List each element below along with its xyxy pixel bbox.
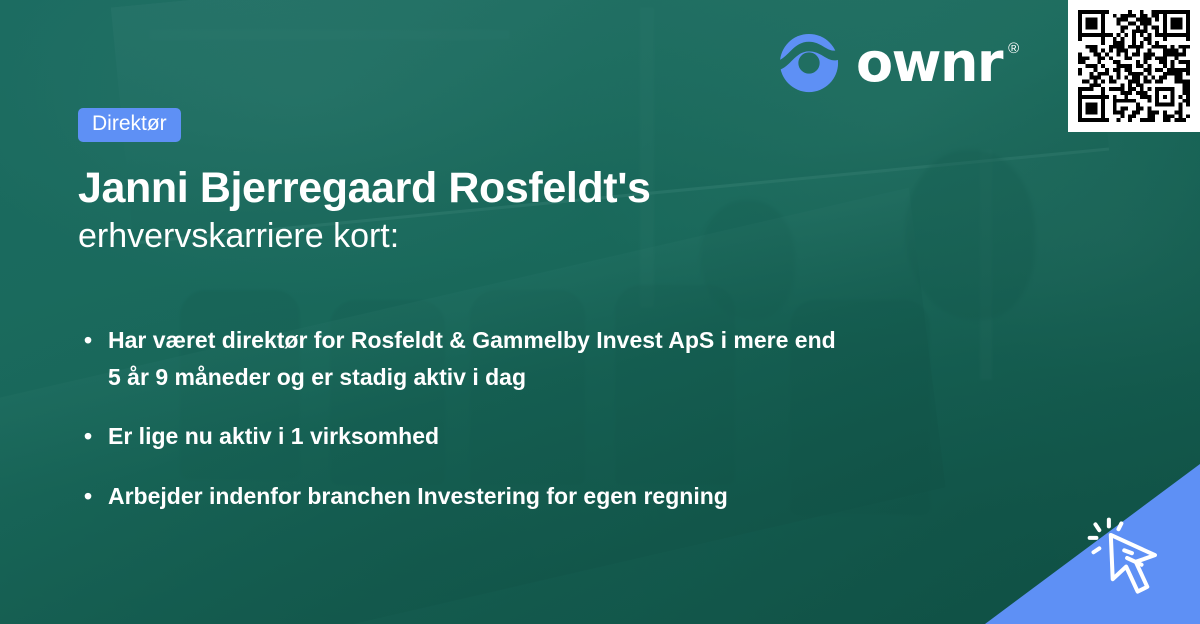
title-line-2: erhvervskarriere kort: <box>78 216 938 257</box>
role-badge: Direktør <box>78 108 181 142</box>
ownr-logo[interactable]: ownr ® <box>778 32 1019 94</box>
registered-trademark-symbol: ® <box>1008 40 1019 57</box>
qr-code-image <box>1078 10 1190 122</box>
career-summary-list: Har været direktør for Rosfeldt & Gammel… <box>78 322 938 515</box>
title-line-1: Janni Bjerregaard Rosfeldt's <box>78 164 938 212</box>
qr-code[interactable] <box>1068 0 1200 132</box>
click-cursor-icon <box>1082 510 1178 606</box>
page-title: Janni Bjerregaard Rosfeldt's erhvervskar… <box>78 164 938 258</box>
promo-card: ownr ® Direktør Janni Bjerregaard Rosfel… <box>0 0 1200 624</box>
ownr-circle-swoosh-icon <box>778 32 840 94</box>
list-item: Er lige nu aktiv i 1 virksomhed <box>78 418 838 455</box>
ownr-wordmark: ownr <box>856 36 1002 90</box>
content-column: Direktør Janni Bjerregaard Rosfeldt's er… <box>78 108 938 515</box>
list-item: Har været direktør for Rosfeldt & Gammel… <box>78 322 838 397</box>
list-item: Arbejder indenfor branchen Investering f… <box>78 478 838 515</box>
